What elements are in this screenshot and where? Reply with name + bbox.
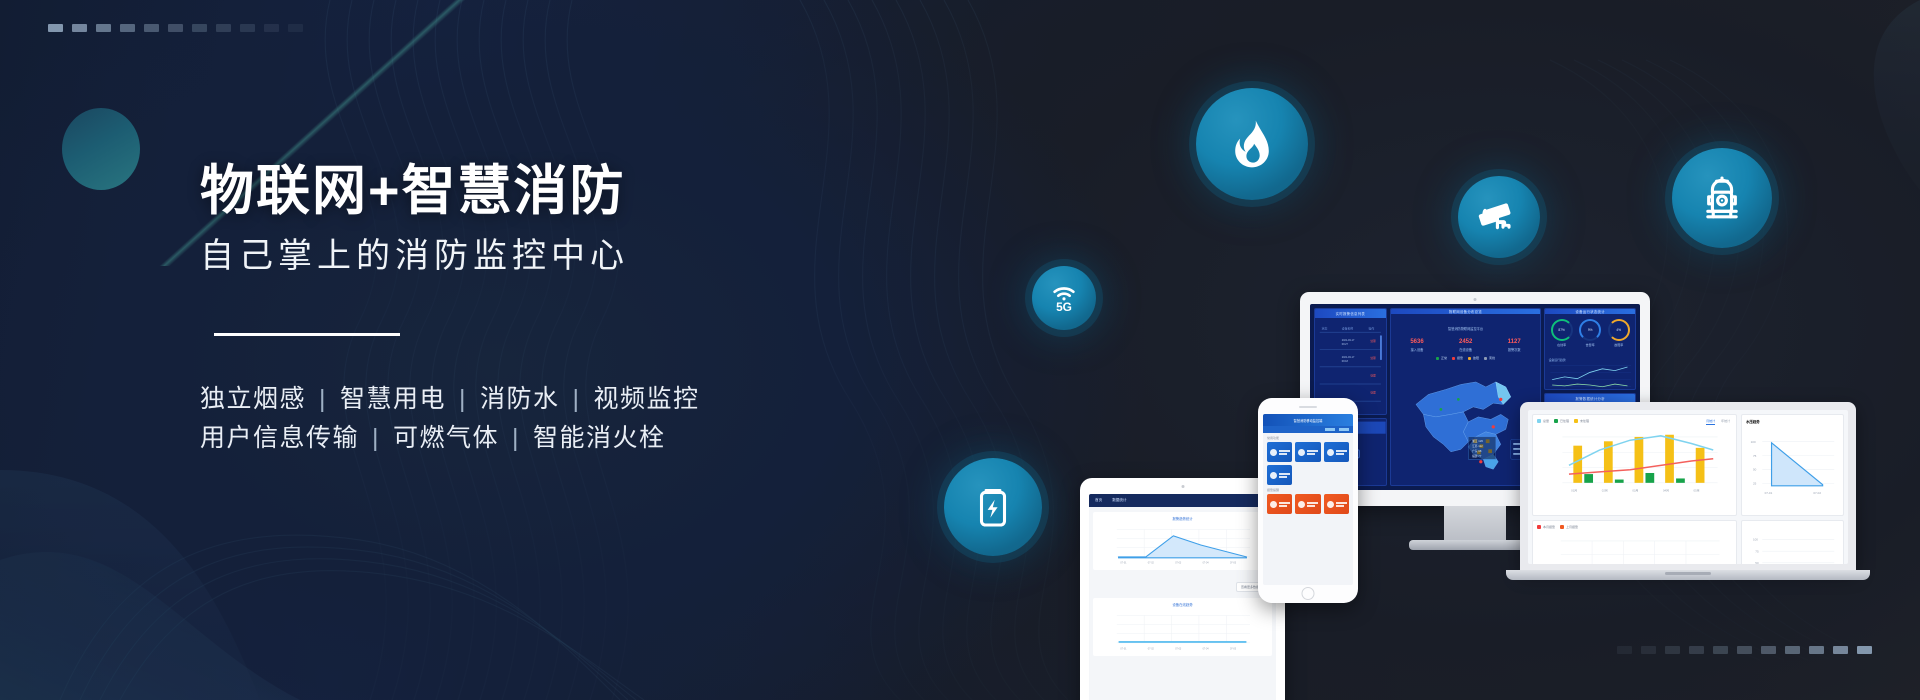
legend-item: 总量	[1537, 419, 1549, 423]
svg-text:操作: 操作	[1369, 325, 1375, 330]
laptop-row-top: 月统计 年统计 总量 已处理 未处理	[1532, 414, 1844, 516]
tablet-alarm-trend: 07-0107-0207-03 07-0407-05	[1098, 524, 1267, 566]
dashboard-center-column: 物联网设备分布总览 智慧消防物联网监控平台 5636 接入设备	[1390, 308, 1542, 486]
phone-subnav[interactable]	[1263, 426, 1353, 433]
corner-dashes-bottom-right	[1617, 646, 1872, 654]
laptop-legend-2: 本月报警 上月报警	[1537, 525, 1732, 529]
legend-item: 离线	[1484, 356, 1495, 360]
laptop-combo-card: 月统计 年统计 总量 已处理 未处理	[1532, 414, 1737, 516]
fire-hydrant-icon	[1672, 148, 1772, 248]
tablet-card-title: 设备在线趋势	[1098, 602, 1267, 607]
legend-item: 报警	[1452, 356, 1463, 360]
svg-text:处理: 处理	[1370, 391, 1376, 395]
gauge-label: 告警率	[1579, 343, 1601, 347]
cctv-camera-icon	[1458, 176, 1540, 258]
gauge-ring: 87%	[1551, 319, 1573, 341]
svg-text:2021-03-17: 2021-03-17	[1342, 339, 1355, 342]
svg-text:09:18: 09:18	[1342, 360, 1349, 363]
overview-map-panel: 物联网设备分布总览 智慧消防物联网监控平台 5636 接入设备	[1390, 308, 1542, 486]
svg-text:广东 98: 广东 98	[1472, 449, 1482, 453]
trend-lines-chart: 设备运行趋势 03-0103-0203-03 03-0403-05	[1545, 352, 1635, 390]
svg-text:07-03: 07-03	[1175, 647, 1182, 650]
kpi-section-label: 智慧消防物联网监控平台	[1391, 314, 1541, 335]
phone-speaker	[1299, 406, 1317, 408]
kpi-value: 1127	[1508, 339, 1521, 345]
svg-text:100: 100	[1753, 538, 1758, 542]
legend-item: 正常	[1436, 356, 1447, 360]
tablet-nav-item-1[interactable]: 首页	[1095, 498, 1102, 503]
monitor-trend-lines: 设备运行趋势 03-0103-0203-03 03-0403-05	[1545, 352, 1635, 390]
kpi-item: 5636 接入设备	[1410, 339, 1423, 352]
tablet-chart-wrap: 07-0107-0207-03 07-0407-05	[1098, 524, 1267, 566]
svg-text:07-05: 07-05	[1230, 647, 1237, 650]
gauge-label: 在线率	[1551, 343, 1573, 347]
legend-item: 未处理	[1574, 419, 1589, 423]
tab-month[interactable]: 月统计	[1706, 419, 1715, 425]
feature-separator: |	[512, 419, 520, 459]
svg-text:设备运行趋势: 设备运行趋势	[1549, 357, 1566, 362]
tablet-online-trend: 07-0107-0207-03 07-0407-05	[1098, 610, 1267, 652]
svg-text:07-01: 07-01	[1765, 491, 1773, 495]
svg-text:05月: 05月	[1694, 489, 1700, 493]
gauge-ring: 9%	[1579, 319, 1601, 341]
feature-line-1: 独立烟感 | 智慧用电 | 消防水 | 视频监控	[200, 380, 840, 420]
legend-item: 故障	[1468, 356, 1479, 360]
gauge-ring: 4%	[1608, 319, 1630, 341]
tile-label	[1336, 502, 1347, 507]
svg-text:25: 25	[1753, 482, 1757, 486]
china-map-svg: 浙江 126江苏 112 广东 98福建 77	[1391, 362, 1541, 486]
tile-label	[1336, 450, 1347, 455]
feature-list: 独立烟感 | 智慧用电 | 消防水 | 视频监控 用户信息传输 | 可燃气体 |…	[200, 380, 840, 459]
kpi-label: 接入设备	[1410, 347, 1423, 352]
laptop-flat-bar: 1007550250 07-0107-02	[1746, 525, 1839, 564]
feature-item: 独立烟感	[200, 380, 306, 420]
tablet-camera-dot	[1181, 485, 1184, 488]
svg-text:50: 50	[1755, 561, 1759, 564]
tablet-screen: 首页 数据统计 报警趋势统计 07-0107-0207-	[1089, 494, 1276, 700]
tile-icon	[1298, 501, 1305, 508]
laptop-base	[1506, 570, 1870, 580]
svg-text:02月: 02月	[1602, 489, 1608, 493]
tablet-nav-item-2[interactable]: 数据统计	[1112, 498, 1126, 503]
kpi-row: 5636 接入设备 2452 在线设备 1127 报警次数	[1391, 335, 1541, 354]
legend-item: 本月报警	[1537, 525, 1555, 529]
svg-text:07-01: 07-01	[1120, 561, 1127, 564]
laptop-decline-card: 水压趋势 100755025 07-0107-02	[1741, 414, 1844, 516]
decorative-circle	[62, 108, 140, 190]
svg-text:75: 75	[1753, 454, 1757, 458]
feature-separator: |	[573, 380, 581, 420]
laptop-lid: 月统计 年统计 总量 已处理 未处理	[1520, 402, 1856, 570]
tablet-device: 首页 数据统计 报警趋势统计 07-0107-0207-	[1080, 478, 1285, 700]
5g-signal-icon: 5G	[1032, 266, 1096, 330]
tile-label	[1307, 502, 1318, 507]
panel-title: 报警数据统计分析	[1575, 396, 1605, 401]
tile-icon	[1270, 449, 1277, 456]
tile-label	[1307, 450, 1318, 455]
page-subtitle: 自己掌上的消防监控中心	[200, 236, 840, 277]
feature-item: 用户信息传输	[200, 419, 359, 459]
device-mockup-cluster: 实时报警信息列表 状态设备名称操作 2021-03-1709:27 2021-0…	[1120, 280, 1860, 600]
laptop-combo: 01月02月03月 04月05月	[1537, 426, 1732, 498]
phone-tile[interactable]	[1267, 442, 1292, 462]
gauge-item: 4% 故障率	[1608, 319, 1630, 347]
gauge-label: 故障率	[1608, 343, 1630, 347]
phone-home-button[interactable]	[1302, 587, 1315, 600]
svg-text:江苏 112: 江苏 112	[1472, 444, 1483, 448]
laptop-decline: 100755025 07-0107-02	[1746, 427, 1839, 503]
svg-text:福建 77: 福建 77	[1472, 454, 1482, 458]
feature-separator: |	[459, 380, 467, 420]
kpi-value: 5636	[1410, 339, 1423, 345]
corner-dashes-top-left	[48, 24, 303, 32]
phone-app-header: 智慧消防移动监控端	[1263, 414, 1353, 426]
tablet-card-online: 设备在线趋势 07-0107-0207-03 07-0407-05	[1093, 598, 1272, 656]
phone-tile[interactable]	[1267, 465, 1292, 485]
phone-tile-group-orange	[1263, 494, 1353, 514]
phone-screen: 智慧消防移动监控端 常用功能 报警提醒	[1263, 414, 1353, 585]
gauge-item: 9% 告警率	[1579, 319, 1601, 347]
mobile-phone: 智慧消防移动监控端 常用功能 报警提醒	[1258, 398, 1358, 603]
svg-text:5G: 5G	[1056, 300, 1072, 314]
legend-item: 已处理	[1554, 419, 1569, 423]
kpi-item: 1127 报警次数	[1508, 339, 1521, 352]
svg-text:07-01: 07-01	[1120, 647, 1127, 650]
laptop-flat: 07-0107-0207-03 07-0407-05	[1537, 532, 1732, 564]
laptop-device: 月统计 年统计 总量 已处理 未处理	[1520, 402, 1856, 592]
phone-tile[interactable]	[1295, 442, 1320, 462]
feature-separator: |	[372, 419, 380, 459]
china-map: 浙江 126江苏 112 广东 98福建 77	[1391, 362, 1541, 486]
svg-text:处理: 处理	[1370, 339, 1376, 343]
tablet-card-alarm: 报警趋势统计 07-0107-0207-03 07-0407-05	[1093, 512, 1272, 570]
svg-text:01月: 01月	[1571, 489, 1577, 493]
kpi-label: 在线设备	[1459, 347, 1472, 352]
feature-separator: |	[319, 380, 327, 420]
svg-text:处理: 处理	[1370, 356, 1376, 360]
flame-icon	[1196, 88, 1308, 200]
svg-text:设备名称: 设备名称	[1342, 325, 1354, 330]
phone-tile-alert[interactable]	[1295, 494, 1320, 514]
laptop-screen: 月统计 年统计 总量 已处理 未处理	[1528, 410, 1848, 564]
laptop-tabs: 月统计 年统计	[1706, 419, 1730, 425]
map-legend: 正常 报警 故障 离线	[1391, 354, 1541, 362]
laptop-flat-card: 本月报警 上月报警 07-0107-0207-03 07-0407-05	[1532, 520, 1737, 564]
tile-icon	[1270, 501, 1277, 508]
divider	[214, 333, 400, 336]
svg-text:50: 50	[1753, 468, 1757, 472]
svg-text:07-02: 07-02	[1148, 561, 1155, 564]
legend-item: 上月报警	[1560, 525, 1578, 529]
svg-text:09:27: 09:27	[1342, 343, 1349, 346]
svg-text:状态: 状态	[1322, 325, 1328, 330]
kpi-value: 2452	[1459, 339, 1472, 345]
svg-text:浙江 126: 浙江 126	[1472, 439, 1483, 443]
phone-tile-alert[interactable]	[1267, 494, 1292, 514]
tile-label	[1279, 502, 1290, 507]
phone-app-title: 智慧消防移动监控端	[1294, 418, 1323, 423]
feature-item: 消防水	[480, 380, 560, 420]
gauge-item: 87% 在线率	[1551, 319, 1573, 347]
panel-title: 实时报警信息列表	[1336, 311, 1366, 316]
phone-section-label-1: 常用功能	[1263, 433, 1353, 442]
monitor-neck	[1444, 506, 1506, 544]
feature-line-2: 用户信息传输 | 可燃气体 | 智能消火栓	[200, 419, 840, 459]
tablet-chart-wrap-2: 07-0107-0207-03 07-0407-05	[1098, 610, 1267, 652]
tab-year[interactable]: 年统计	[1721, 419, 1730, 425]
feature-item: 可燃气体	[393, 419, 499, 459]
svg-text:07-04: 07-04	[1203, 647, 1210, 650]
gauge-row: 87% 在线率 9% 告警率 4% 故障率	[1545, 314, 1635, 352]
phone-section-label-2: 报警提醒	[1263, 485, 1353, 494]
tile-icon	[1298, 449, 1305, 456]
tile-icon	[1327, 449, 1334, 456]
svg-text:04月: 04月	[1663, 489, 1669, 493]
laptop-legend: 总量 已处理 未处理	[1537, 419, 1732, 423]
phone-tile-alert[interactable]	[1324, 494, 1349, 514]
hero-copy: 物联网+智慧消防 自己掌上的消防监控中心 独立烟感 | 智慧用电 | 消防水 |…	[200, 160, 840, 459]
svg-text:07-04: 07-04	[1203, 561, 1210, 564]
tile-label	[1279, 473, 1290, 478]
tile-icon	[1270, 472, 1277, 479]
svg-text:07-05: 07-05	[1230, 561, 1237, 564]
tablet-card-title: 报警趋势统计	[1098, 516, 1267, 521]
tablet-nav[interactable]: 首页 数据统计	[1089, 494, 1276, 507]
tile-icon	[1327, 501, 1334, 508]
panel-header: 实时报警信息列表	[1315, 309, 1386, 318]
svg-text:07-02: 07-02	[1813, 491, 1821, 495]
monitor-camera-dot	[1474, 298, 1477, 301]
hero-banner: 物联网+智慧消防 自己掌上的消防监控中心 独立烟感 | 智慧用电 | 消防水 |…	[0, 0, 1920, 700]
kpi-item: 2452 在线设备	[1459, 339, 1472, 352]
tablet-button-row: 查看更多数据报表	[1089, 575, 1276, 593]
feature-item: 智慧用电	[340, 380, 446, 420]
battery-charge-icon	[944, 458, 1042, 556]
feature-item: 视频监控	[594, 380, 700, 420]
page-title: 物联网+智慧消防	[200, 160, 840, 222]
svg-text:03月: 03月	[1632, 489, 1638, 493]
laptop-card-title: 水压趋势	[1746, 419, 1839, 424]
status-gauges-panel: 设备运行状态统计 87% 在线率 9% 告警率	[1544, 308, 1636, 390]
laptop-row-bottom: 本月报警 上月报警 07-0107-0207-03 07-0407-05	[1532, 520, 1844, 564]
svg-text:75: 75	[1755, 550, 1759, 554]
feature-item: 智能消火栓	[533, 419, 666, 459]
phone-tile[interactable]	[1324, 442, 1349, 462]
tile-label	[1279, 450, 1290, 455]
kpi-label: 报警次数	[1508, 347, 1521, 352]
svg-text:07-03: 07-03	[1175, 561, 1182, 564]
laptop-bar-card: 1007550250 07-0107-02	[1741, 520, 1844, 564]
svg-text:100: 100	[1751, 440, 1756, 444]
phone-tile-group-blue	[1263, 442, 1353, 485]
svg-text:07-02: 07-02	[1148, 647, 1155, 650]
svg-text:处理: 处理	[1370, 373, 1376, 377]
svg-text:2021-03-17: 2021-03-17	[1342, 356, 1355, 359]
